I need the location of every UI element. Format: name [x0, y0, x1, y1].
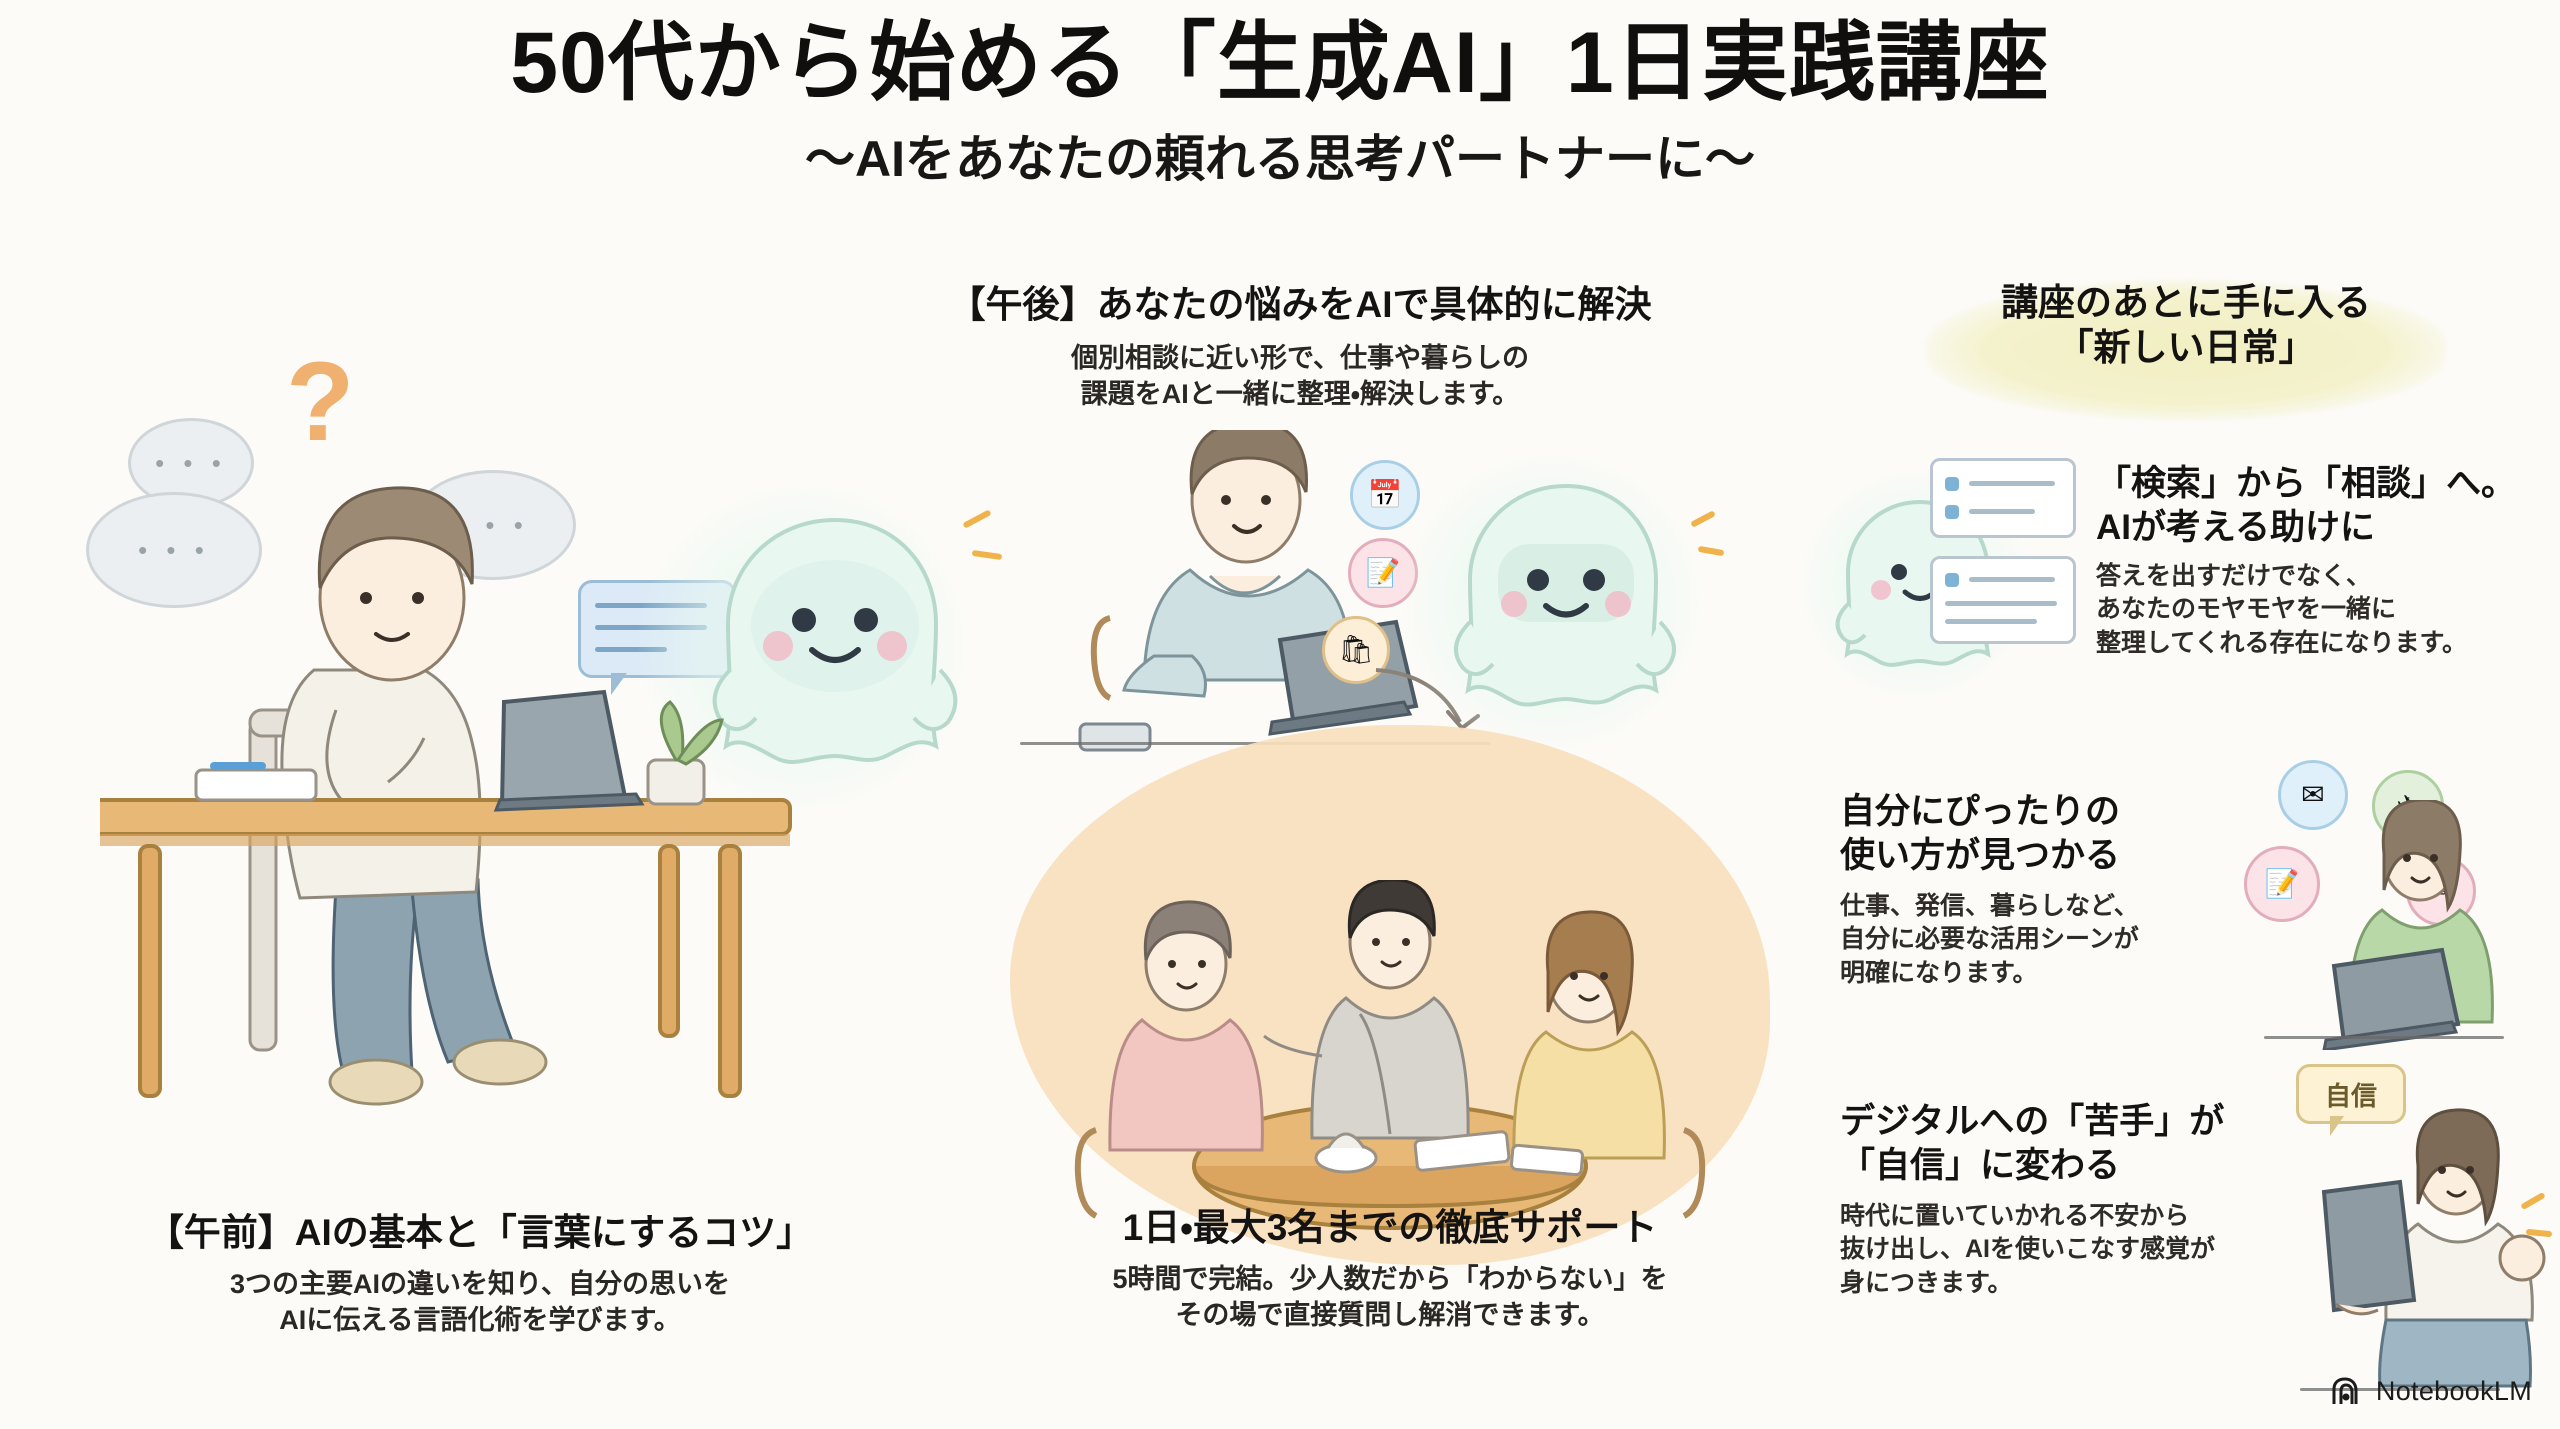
outcome-3-heading-line1: デジタルへの「苦手」が: [1840, 1100, 2310, 1144]
outcome-2-body-line3: 明確になります。: [1840, 957, 2310, 991]
support-heading: 1日・最大3名までの徹底サポート: [1010, 1205, 1770, 1250]
ai-robot-center-icon: [1446, 470, 1686, 730]
afternoon-body-line2: 課題をAIと一緒に整理・解決します。: [820, 377, 1780, 413]
panel-line: [1945, 601, 2057, 606]
watermark-label: NotebookLM: [2376, 1376, 2532, 1407]
woman-holding-tablet-illustration: [2306, 1108, 2556, 1388]
woman-with-laptop-illustration: [2300, 800, 2550, 1050]
panel-bullet: [1945, 477, 1959, 491]
outcome-3-heading-line2: 「自信」に変わる: [1840, 1144, 2310, 1188]
three-people-table-illustration: [1060, 880, 1720, 1260]
outcome-2-body-line2: 自分に必要な活用シーンが: [1840, 923, 2310, 957]
outcome-item-3: デジタルへの「苦手」が 「自信」に変わる 時代に置いていかれる不安から 抜け出し…: [1840, 1100, 2310, 1300]
outcome-3-body-line3: 身につきます。: [1840, 1267, 2310, 1301]
outcome-2-heading-line2: 使い方が見つかる: [1840, 834, 2310, 878]
afternoon-heading: 【午後】あなたの悩みをAIで具体的に解決: [820, 282, 1780, 327]
spark-mark: [1698, 546, 1725, 556]
woman-at-desk-illustration: [100, 470, 920, 1230]
panel-line: [1945, 619, 2037, 624]
list-panel-top: [1930, 458, 2076, 538]
outcome-1-heading-line1: 「検索」から「相談」へ。: [2096, 462, 2546, 506]
outcome-2-heading-line1: 自分にぴったりの: [1840, 790, 2310, 834]
outcome-1-body-line2: あなたのモヤモヤを一緒に: [2096, 593, 2546, 627]
panel-line: [1969, 509, 2035, 514]
morning-body-line1: 3つの主要AIの違いを知り、自分の思いを: [60, 1267, 900, 1303]
spark-mark: [1690, 510, 1716, 528]
support-body-line2: その場で直接質問し解消できます。: [1010, 1298, 1770, 1334]
morning-heading: 【午前】AIの基本と「言葉にするコツ」: [60, 1210, 900, 1255]
question-mark-icon: ?: [286, 346, 354, 458]
poster-canvas: 50代から始める「生成AI」1日実践講座 〜AIをあなたの頼れる思考パートナーに…: [0, 0, 2560, 1429]
outcomes-heading-line2: 「新しい日常」: [1906, 325, 2466, 370]
outcome-1-heading-line2: AIが考える助けに: [2096, 506, 2546, 550]
outcomes-heading: 講座のあとに手に入る 「新しい日常」: [1906, 280, 2466, 370]
outcome-3-body-line1: 時代に置いていかれる不安から: [1840, 1200, 2310, 1234]
afternoon-caption: 【午後】あなたの悩みをAIで具体的に解決 個別相談に近い形で、仕事や暮らしの 課…: [820, 282, 1780, 412]
list-panel-bottom: [1930, 556, 2076, 644]
page-title: 50代から始める「生成AI」1日実践講座: [0, 18, 2560, 109]
outcome-item-1: 「検索」から「相談」へ。 AIが考える助けに 答えを出すだけでなく、 あなたのモ…: [2096, 462, 2546, 660]
panel-line: [1969, 481, 2055, 486]
outcome-1-body-line1: 答えを出すだけでなく、: [2096, 560, 2546, 594]
outcome-item-2: 自分にぴったりの 使い方が見つかる 仕事、発信、暮らしなど、 自分に必要な活用シ…: [1840, 790, 2310, 990]
afternoon-body-line1: 個別相談に近い形で、仕事や暮らしの: [820, 341, 1780, 377]
outcomes-heading-line1: 講座のあとに手に入る: [1906, 280, 2466, 325]
outcome-1-body-line3: 整理してくれる存在になります。: [2096, 627, 2546, 661]
notebooklm-logo-icon: [2330, 1377, 2364, 1407]
watermark: NotebookLM: [2330, 1376, 2532, 1407]
panel-line: [1969, 577, 2055, 582]
spark-mark: [972, 550, 1003, 560]
support-body-line1: 5時間で完結。少人数だから「わからない」を: [1010, 1262, 1770, 1298]
outcome-3-body-line2: 抜け出し、AIを使いこなす感覚が: [1840, 1233, 2310, 1267]
support-caption: 1日・最大3名までの徹底サポート 5時間で完結。少人数だから「わからない」を そ…: [1010, 1205, 1770, 1333]
title-block: 50代から始める「生成AI」1日実践講座 〜AIをあなたの頼れる思考パートナーに…: [0, 18, 2560, 191]
page-subtitle: 〜AIをあなたの頼れる思考パートナーに〜: [0, 119, 2560, 191]
morning-caption: 【午前】AIの基本と「言葉にするコツ」 3つの主要AIの違いを知り、自分の思いを…: [60, 1210, 900, 1338]
calendar-icon: 📅: [1350, 460, 1420, 530]
morning-body-line2: AIに伝える言語化術を学びます。: [60, 1303, 900, 1339]
panel-bullet: [1945, 505, 1959, 519]
panel-bullet: [1945, 573, 1959, 587]
outcome-2-body-line1: 仕事、発信、暮らしなど、: [1840, 890, 2310, 924]
